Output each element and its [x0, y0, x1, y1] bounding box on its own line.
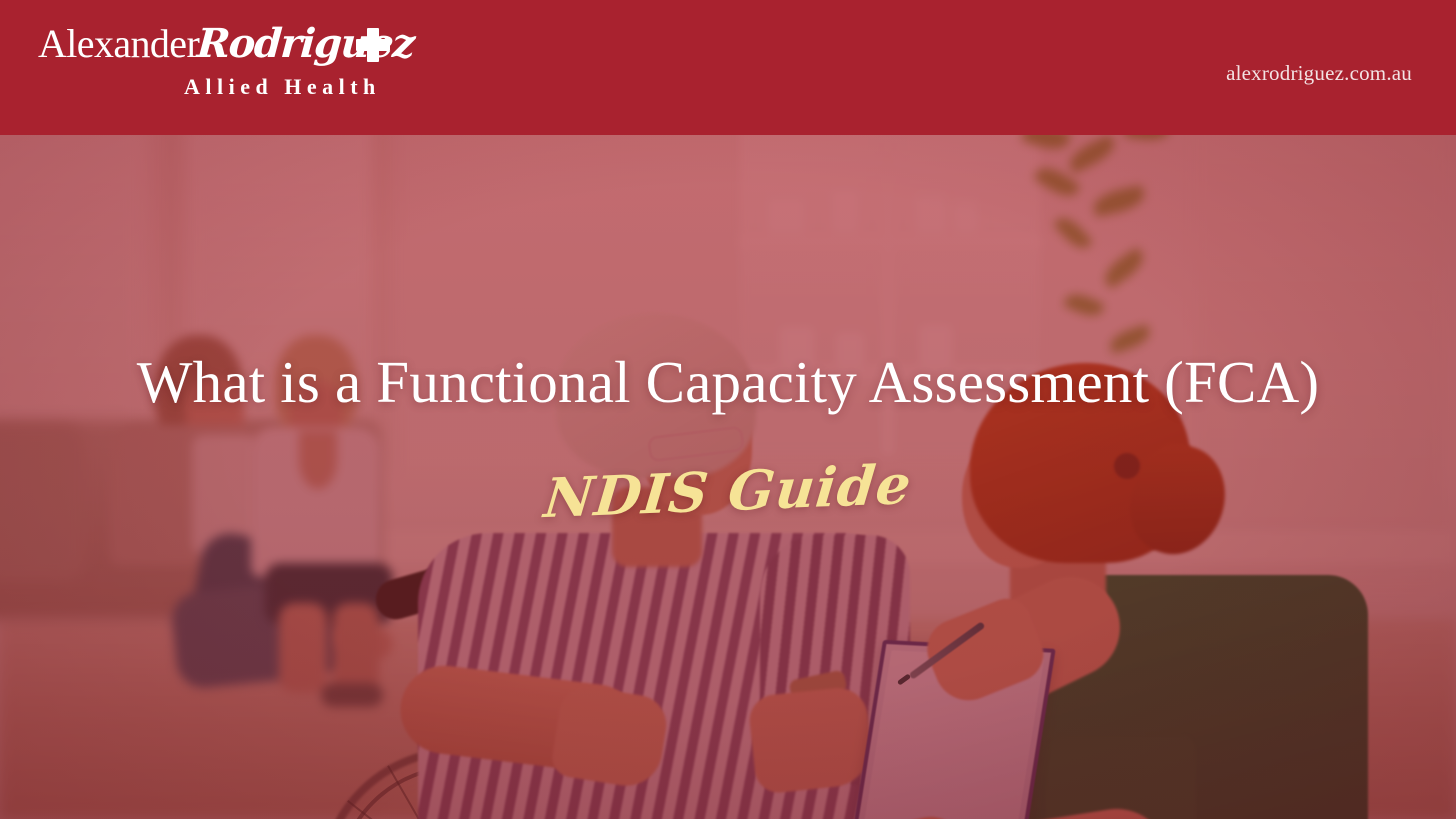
- hero-text-block: What is a Functional Capacity Assessment…: [0, 135, 1456, 819]
- hero-page: AlexanderRodriguez Allied Health alexrod…: [0, 0, 1456, 819]
- site-url-label[interactable]: alexrodriguez.com.au: [1226, 61, 1412, 86]
- brand-tagline: Allied Health: [184, 74, 381, 100]
- page-title: What is a Functional Capacity Assessment…: [0, 348, 1456, 416]
- brand-name-primary: Alexander: [38, 21, 199, 66]
- site-header: AlexanderRodriguez Allied Health alexrod…: [0, 0, 1456, 135]
- page-subtitle: NDIS Guide: [0, 427, 1456, 555]
- medical-cross-icon: [356, 28, 390, 62]
- hero-banner: What is a Functional Capacity Assessment…: [0, 135, 1456, 819]
- brand-logo[interactable]: AlexanderRodriguez Allied Health: [38, 22, 368, 114]
